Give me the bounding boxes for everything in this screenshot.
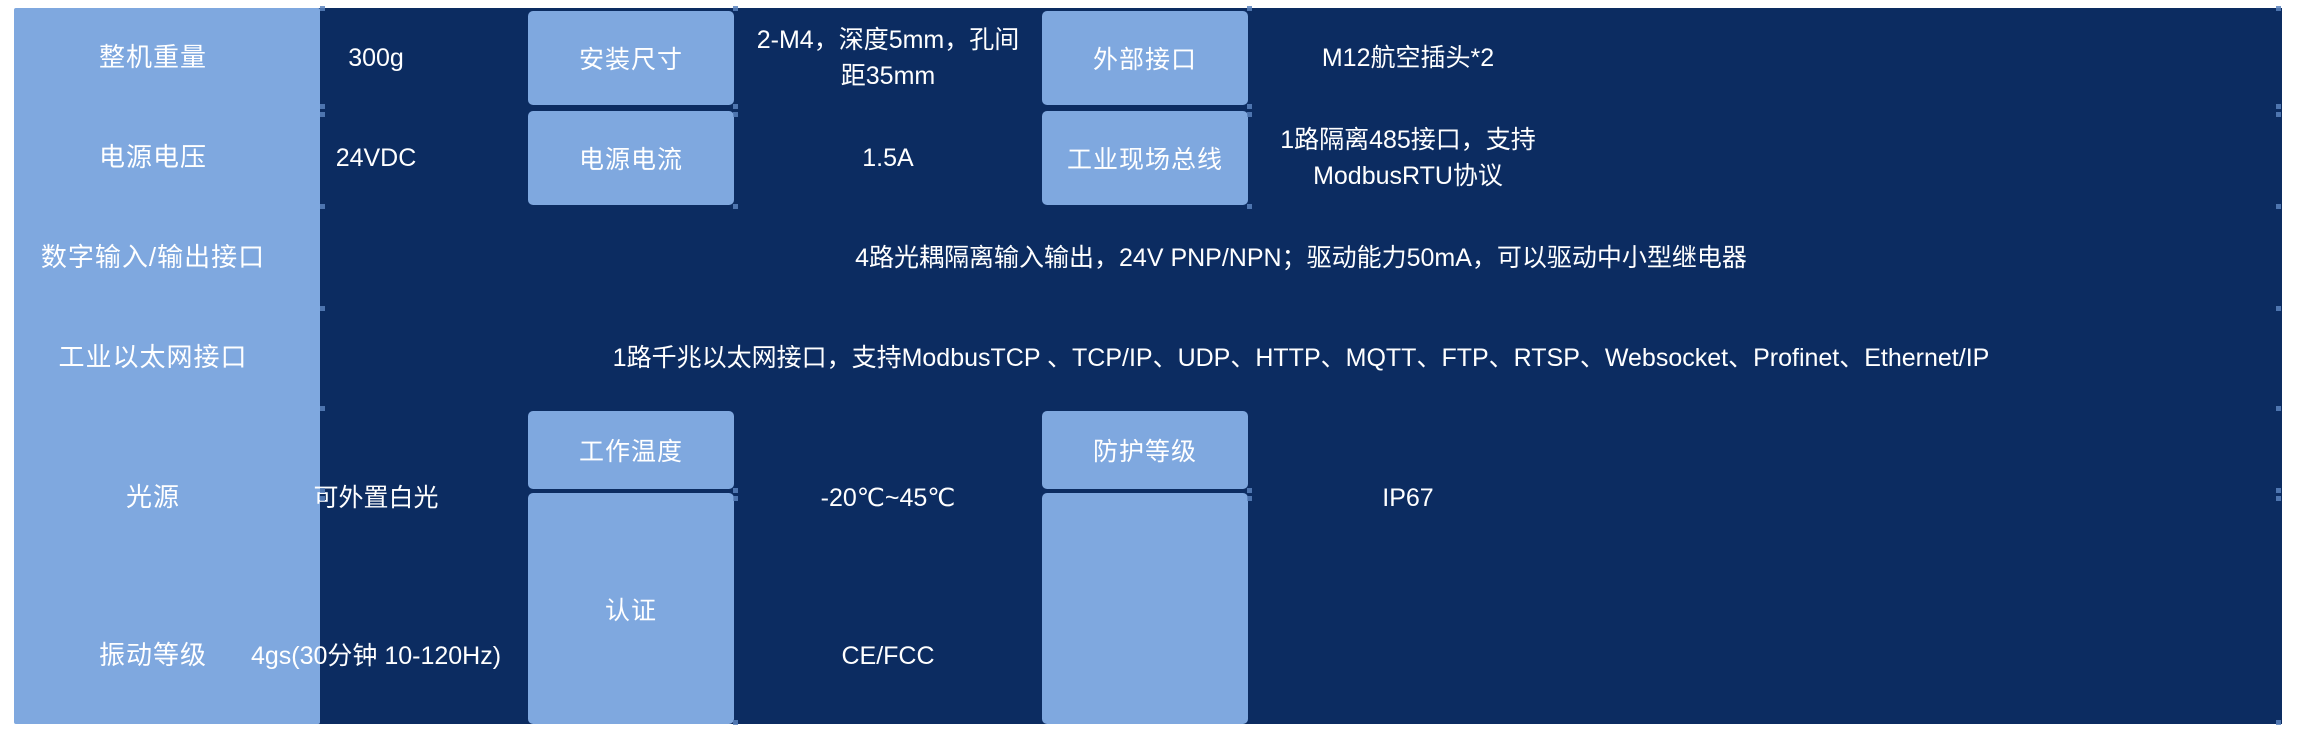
- cell-value-power-voltage: 24VDC: [220, 108, 532, 208]
- chip-working-temperature[interactable]: 工作温度: [528, 411, 734, 489]
- label-text: 电源电压: [99, 141, 207, 175]
- selection-handle-icon: [320, 112, 325, 117]
- label-text: 光源: [126, 481, 180, 515]
- value-text: 可外置白光: [313, 480, 438, 516]
- value-text: 1路隔离485接口，支持ModbusRTU协议: [1264, 122, 1552, 195]
- selection-handle-icon: [2276, 720, 2281, 725]
- selection-handle-icon: [320, 488, 325, 493]
- cell-value-fieldbus: 1路隔离485接口，支持ModbusRTU协议: [1254, 108, 1562, 208]
- chip-label: 外部接口: [1093, 40, 1197, 76]
- chip-external-interface[interactable]: 外部接口: [1042, 11, 1248, 105]
- value-text: IP67: [1382, 480, 1433, 516]
- value-text: 4路光耦隔离输入输出，24V PNP/NPN；驱动能力50mA，可以驱动中小型继…: [855, 240, 1747, 276]
- selection-handle-icon: [2276, 112, 2281, 117]
- label-text: 整机重量: [99, 41, 207, 75]
- chip-mounting-size[interactable]: 安装尺寸: [528, 11, 734, 105]
- label-text: 工业以太网接口: [58, 341, 247, 375]
- chip-fieldbus[interactable]: 工业现场总线: [1042, 111, 1248, 205]
- value-text: M12航空插头*2: [1322, 40, 1494, 76]
- selection-handle-icon: [2276, 6, 2281, 11]
- value-text: 300g: [348, 40, 404, 76]
- selection-handle-icon: [2276, 204, 2281, 209]
- cell-value-certification: CE/FCC: [740, 588, 1036, 724]
- specification-table: 整机重量 电源电压 数字输入/输出接口 工业以太网接口 光源 振动等级 300g…: [0, 0, 2300, 732]
- cell-value-weight: 300g: [220, 8, 532, 108]
- selection-handle-icon: [733, 112, 738, 117]
- selection-handle-icon: [733, 720, 738, 725]
- chip-empty-last[interactable]: [1042, 493, 1248, 724]
- value-text: 2-M4，深度5mm，孔间距35mm: [750, 22, 1026, 95]
- chip-certification[interactable]: 认证: [528, 493, 734, 724]
- chip-label: 认证: [605, 591, 657, 627]
- selection-handle-icon: [733, 496, 738, 501]
- cell-value-empty-last: [1254, 588, 1562, 724]
- chip-label: 工作温度: [579, 432, 683, 468]
- selection-handle-icon: [2276, 488, 2281, 493]
- label-text: 数字输入/输出接口: [41, 241, 265, 275]
- selection-handle-icon: [733, 104, 738, 109]
- selection-handle-icon: [1247, 6, 1252, 11]
- row-label-digital-io: 数字输入/输出接口: [0, 208, 306, 308]
- chip-label: 工业现场总线: [1067, 140, 1223, 176]
- selection-handle-icon: [733, 204, 738, 209]
- value-text: 1.5A: [862, 140, 913, 176]
- cell-value-industrial-ethernet: 1路千兆以太网接口，支持ModbusTCP 、TCP/IP、UDP、HTTP、M…: [320, 308, 2282, 408]
- cell-value-working-temperature: -20℃~45℃: [740, 408, 1036, 588]
- selection-handle-icon: [320, 306, 325, 311]
- chip-protection-rating[interactable]: 防护等级: [1042, 411, 1248, 489]
- selection-handle-icon: [2276, 496, 2281, 501]
- cell-value-mounting-size: 2-M4，深度5mm，孔间距35mm: [740, 8, 1036, 108]
- selection-handle-icon: [320, 104, 325, 109]
- value-text: CE/FCC: [841, 638, 934, 674]
- selection-handle-icon: [1247, 488, 1252, 493]
- selection-handle-icon: [1247, 496, 1252, 501]
- value-text: 4gs(30分钟 10-120Hz): [251, 638, 501, 674]
- row-label-industrial-ethernet: 工业以太网接口: [0, 308, 306, 408]
- chip-power-current[interactable]: 电源电流: [528, 111, 734, 205]
- value-text: 24VDC: [336, 140, 417, 176]
- selection-handle-icon: [733, 488, 738, 493]
- selection-handle-icon: [320, 204, 325, 209]
- value-text: 1路千兆以太网接口，支持ModbusTCP 、TCP/IP、UDP、HTTP、M…: [613, 340, 1990, 376]
- label-text: 振动等级: [99, 639, 207, 673]
- selection-handle-icon: [733, 6, 738, 11]
- selection-handle-icon: [320, 6, 325, 11]
- cell-value-protection-rating: IP67: [1254, 408, 1562, 588]
- cell-value-power-current: 1.5A: [740, 108, 1036, 208]
- selection-handle-icon: [320, 406, 325, 411]
- cell-value-external-interface: M12航空插头*2: [1254, 8, 1562, 108]
- chip-label: 防护等级: [1093, 432, 1197, 468]
- selection-handle-icon: [1247, 104, 1252, 109]
- cell-value-vibration: 4gs(30分钟 10-120Hz): [220, 588, 532, 724]
- selection-handle-icon: [2276, 406, 2281, 411]
- selection-handle-icon: [1247, 112, 1252, 117]
- chip-label: 安装尺寸: [579, 40, 683, 76]
- chip-label: 电源电流: [579, 140, 683, 176]
- selection-handle-icon: [2276, 306, 2281, 311]
- selection-handle-icon: [1247, 204, 1252, 209]
- selection-handle-icon: [2276, 104, 2281, 109]
- selection-handle-icon: [320, 496, 325, 501]
- cell-value-light-source: 可外置白光: [220, 408, 532, 588]
- cell-value-digital-io: 4路光耦隔离输入输出，24V PNP/NPN；驱动能力50mA，可以驱动中小型继…: [320, 208, 2282, 308]
- value-text: -20℃~45℃: [821, 480, 956, 516]
